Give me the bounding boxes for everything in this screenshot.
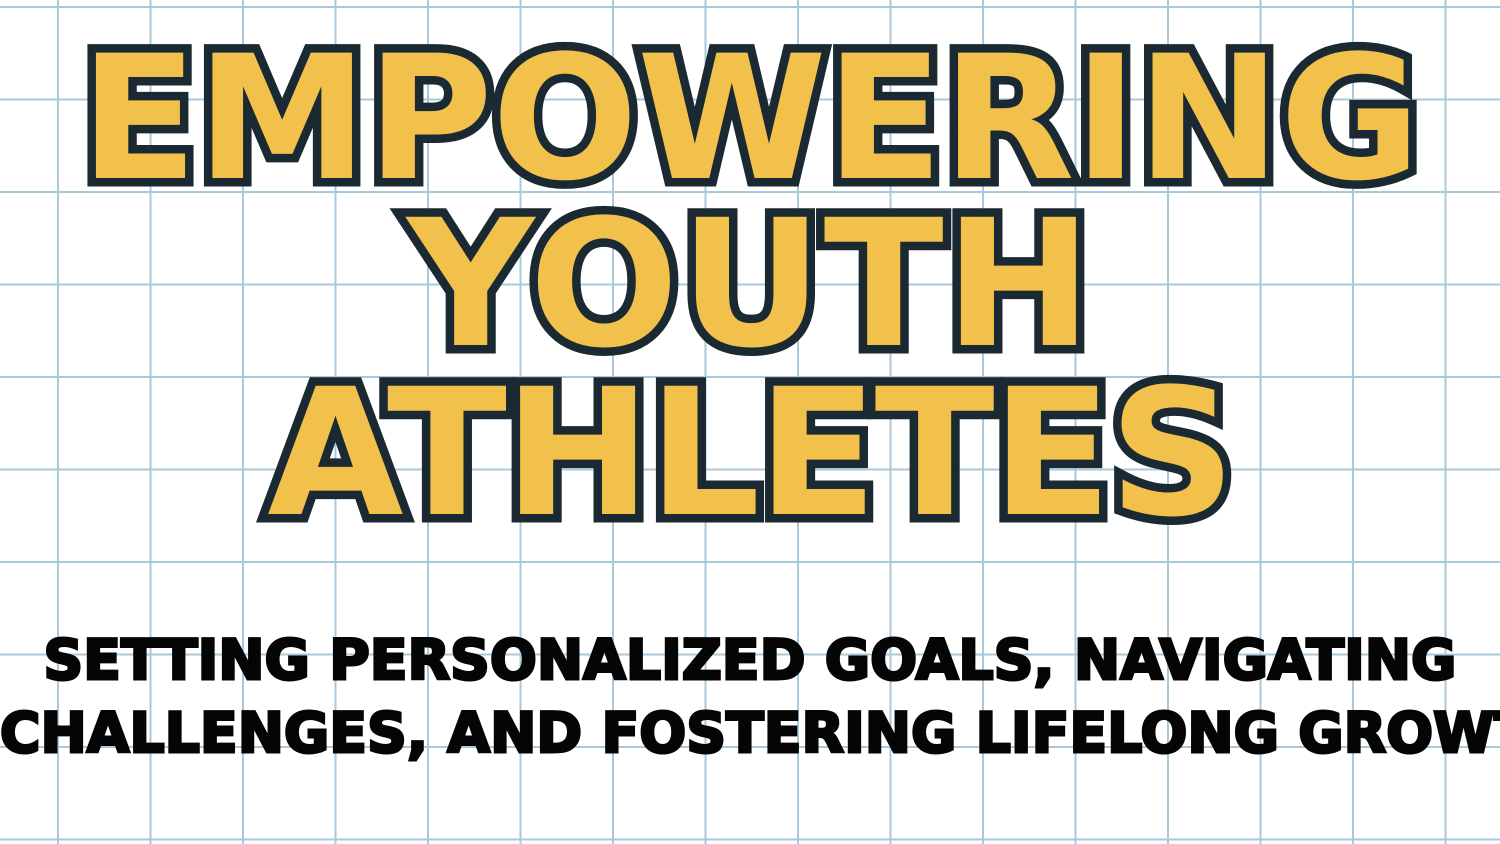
slide-subtitle: SETTING PERSONALIZED GOALS, NAVIGATING C… bbox=[0, 624, 1500, 769]
slide-content: EMPOWERING YOUTH ATHLETES SETTING PERSON… bbox=[0, 0, 1500, 844]
title-line-1: EMPOWERING bbox=[0, 36, 1500, 201]
slide-canvas: EMPOWERING YOUTH ATHLETES SETTING PERSON… bbox=[0, 0, 1500, 844]
subtitle-line-2: CHALLENGES, AND FOSTERING LIFELONG GROWT… bbox=[0, 697, 1500, 770]
slide-title: EMPOWERING YOUTH ATHLETES bbox=[0, 36, 1500, 539]
subtitle-line-1: SETTING PERSONALIZED GOALS, NAVIGATING bbox=[0, 624, 1500, 697]
title-line-3: ATHLETES bbox=[0, 370, 1500, 539]
title-line-2: YOUTH bbox=[0, 201, 1500, 370]
